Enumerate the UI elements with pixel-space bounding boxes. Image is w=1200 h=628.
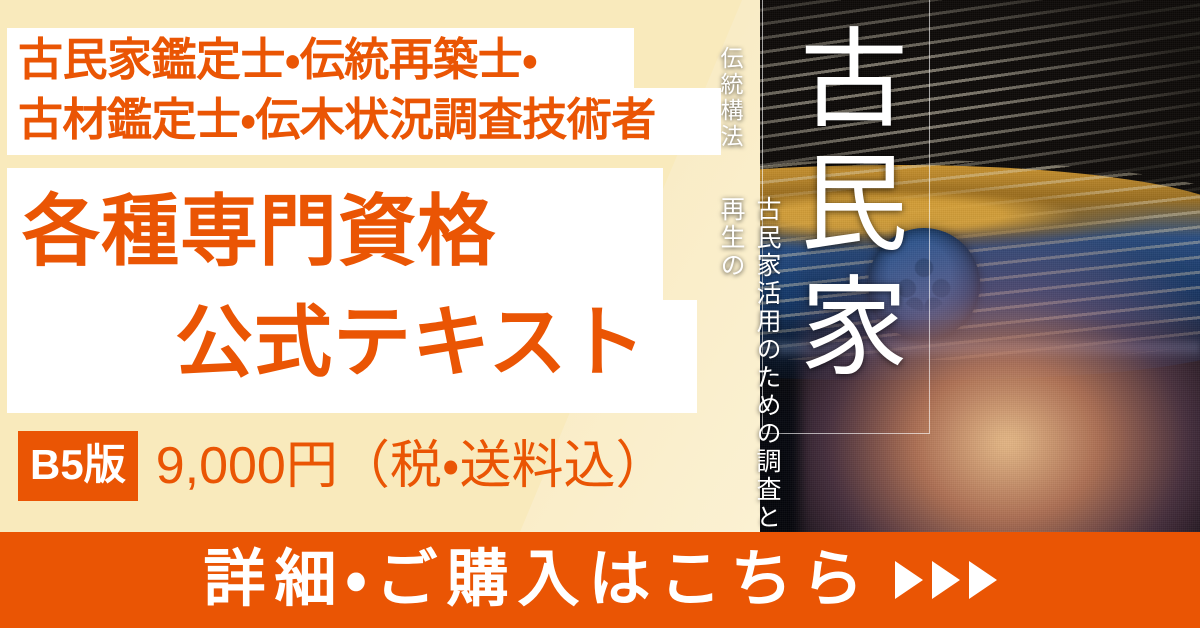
- cta-bar[interactable]: 詳細・ご購入はこちら: [0, 532, 1200, 628]
- headline-line-1: 各種専門資格: [22, 192, 496, 270]
- cover-title-text: 古民家: [783, 8, 907, 408]
- cover-subtitle-text: 古民家活用のための調査と再生の: [712, 196, 784, 536]
- play-arrow-icon: [895, 561, 923, 599]
- price-row: B5版 9,000円（税・送料込）: [0, 420, 720, 512]
- cta-arrows: [895, 561, 997, 599]
- qualification-line-1: 古民家鑑定士・伝統再築士・: [18, 29, 718, 91]
- price-amount: 9,000円（税・送料込）: [156, 440, 668, 492]
- size-badge: B5版: [18, 431, 138, 501]
- promo-banner: 古民家 伝統構法 古民家活用のための調査と再生の 古民家鑑定士・伝統再築士・ 古…: [0, 0, 1200, 628]
- play-arrow-icon: [932, 561, 960, 599]
- play-arrow-icon: [969, 561, 997, 599]
- headline-line-2: 公式テキスト: [175, 303, 647, 381]
- qualification-line-2: 古材鑑定士・伝木状況調査技術者: [18, 89, 718, 151]
- cta-label: 詳細・ご購入はこちら: [203, 549, 872, 611]
